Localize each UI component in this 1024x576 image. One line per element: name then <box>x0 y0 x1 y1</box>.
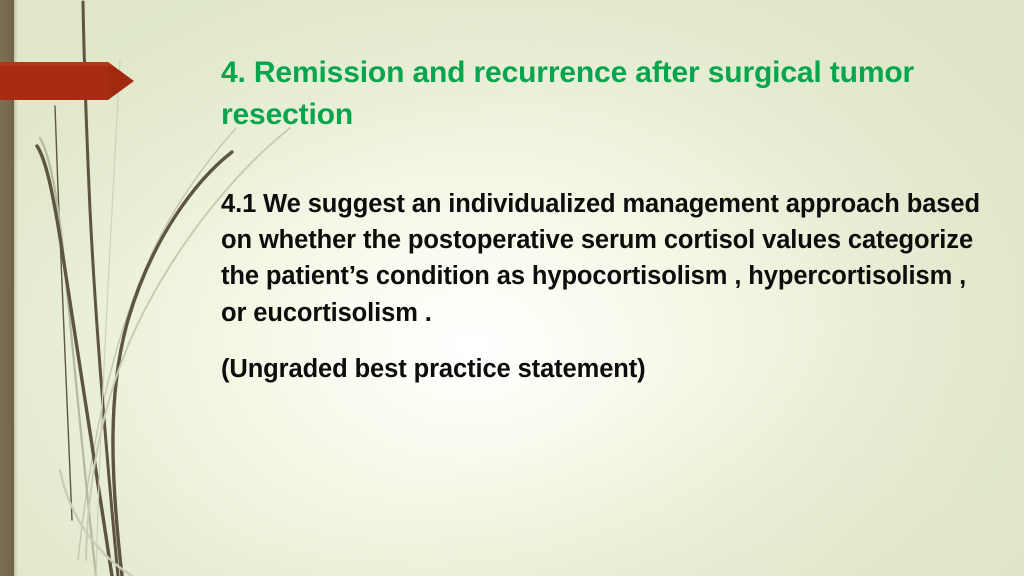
slide-body-block: 4.1 We suggest an individualized managem… <box>221 186 981 387</box>
slide-heading: 4. Remission and recurrence after surgic… <box>221 52 981 136</box>
recommendation-paragraph: 4.1 We suggest an individualized managem… <box>221 186 981 331</box>
red-arrow-banner <box>0 57 136 105</box>
slide-canvas: 4. Remission and recurrence after surgic… <box>0 0 1024 576</box>
slide-content: 4. Remission and recurrence after surgic… <box>221 52 981 387</box>
grading-note: (Ungraded best practice statement) <box>221 351 981 387</box>
